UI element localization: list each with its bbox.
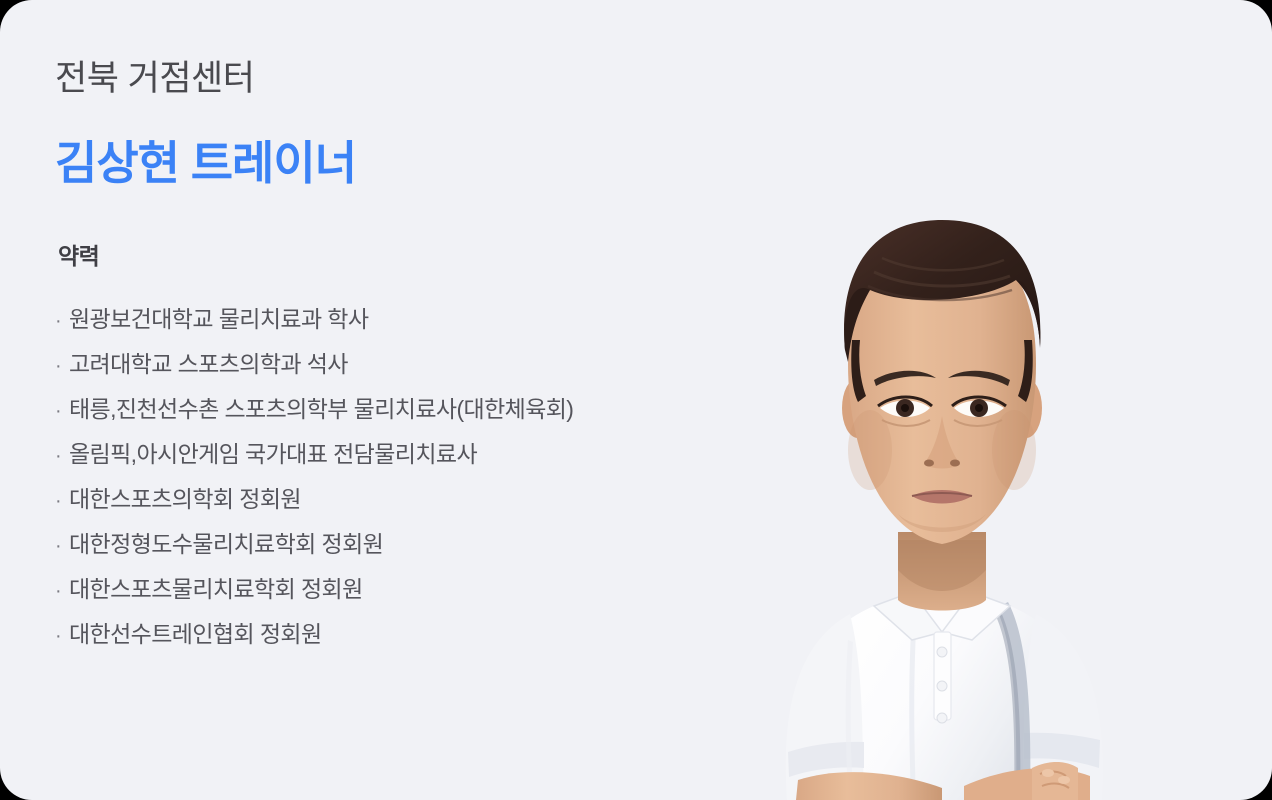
list-item-label: 대한정형도수물리치료학회 정회원 (69, 522, 383, 567)
list-item-label: 올림픽,아시안게임 국가대표 전담물리치료사 (69, 432, 477, 477)
bullet-icon: · (55, 614, 69, 659)
bullet-icon: · (55, 479, 69, 524)
ears (842, 378, 1042, 438)
bullet-icon: · (55, 434, 69, 479)
list-item: · 대한스포츠의학회 정회원 (55, 477, 573, 522)
list-item-label: 대한선수트레인협회 정회원 (69, 612, 322, 657)
center-name: 전북 거점센터 (55, 58, 254, 100)
list-item: · 대한선수트레인협회 정회원 (55, 612, 573, 657)
list-item: · 원광보건대학교 물리치료과 학사 (55, 297, 573, 342)
list-item: · 올림픽,아시안게임 국가대표 전담물리치료사 (55, 432, 573, 477)
neck (898, 532, 986, 611)
bullet-icon: · (55, 389, 69, 434)
bullet-icon: · (55, 299, 69, 344)
list-item: · 고려대학교 스포츠의학과 석사 (55, 342, 573, 387)
list-item-label: 원광보건대학교 물리치료과 학사 (69, 297, 368, 342)
list-item: · 태릉,진천선수촌 스포츠의학부 물리치료사(대한체육회) (55, 387, 573, 432)
credentials-section-heading: 약력 (58, 243, 99, 271)
list-item: · 대한정형도수물리치료학회 정회원 (55, 522, 573, 567)
eyes (878, 397, 1006, 426)
portrait-illustration (612, 140, 1272, 800)
bullet-icon: · (55, 344, 69, 389)
bullet-icon: · (55, 569, 69, 614)
face-group (844, 220, 1040, 544)
list-item-label: 대한스포츠의학회 정회원 (69, 477, 301, 522)
list-item-label: 고려대학교 스포츠의학과 석사 (69, 342, 348, 387)
hand-icon (1032, 762, 1078, 800)
trainer-portrait-photo (612, 140, 1272, 800)
page-title: 김상현 트레이너 (55, 135, 356, 193)
list-item: · 대한스포츠물리치료학회 정회원 (55, 567, 573, 612)
bullet-icon: · (55, 524, 69, 569)
credentials-list: · 원광보건대학교 물리치료과 학사 · 고려대학교 스포츠의학과 석사 · 태… (55, 297, 573, 657)
profile-text-column: 전북 거점센터 김상현 트레이너 약력 · 원광보건대학교 물리치료과 학사 ·… (55, 0, 655, 800)
trainer-profile-card: 전북 거점센터 김상현 트레이너 약력 · 원광보건대학교 물리치료과 학사 ·… (0, 0, 1272, 800)
crossed-arms-group (796, 762, 1090, 800)
list-item-label: 태릉,진천선수촌 스포츠의학부 물리치료사(대한체육회) (69, 387, 573, 432)
shirt-group (786, 592, 1103, 800)
list-item-label: 대한스포츠물리치료학회 정회원 (69, 567, 363, 612)
